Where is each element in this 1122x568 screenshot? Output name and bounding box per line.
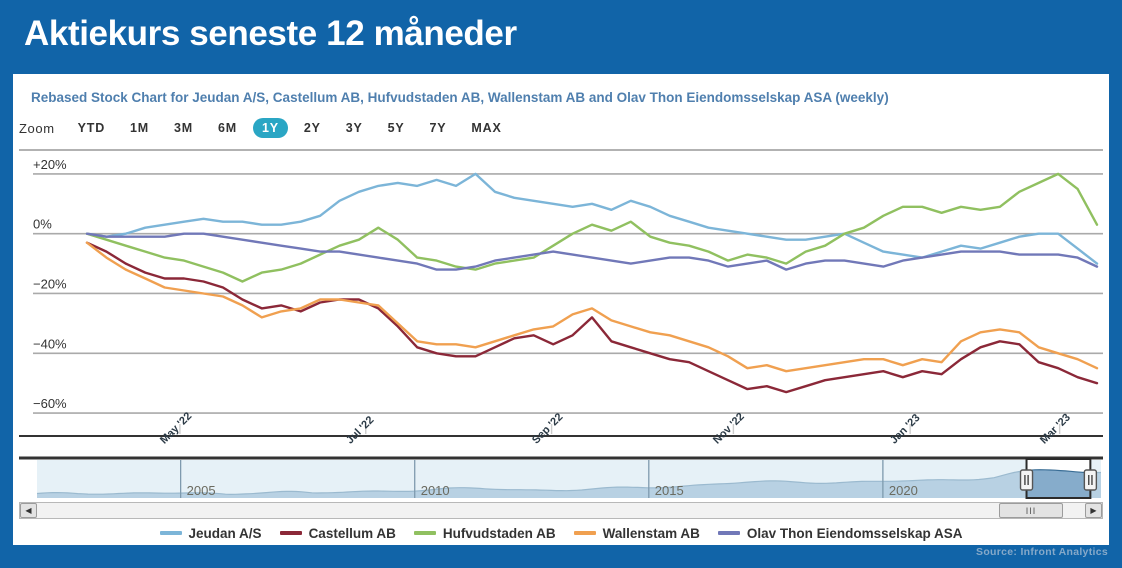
navigator-handle-left[interactable] [1021, 470, 1033, 490]
plot-area: +20%0%−20%−40%−60% [19, 142, 1103, 442]
legend-item-wallenstam-ab[interactable]: Wallenstam AB [574, 526, 700, 541]
navigator-year-label: 2015 [655, 483, 684, 498]
zoom-label: Zoom [19, 121, 55, 136]
zoom-range-selector: Zoom YTD1M3M6M1Y2Y3Y5Y7YMAX [19, 116, 518, 140]
navigator-year-label: 2005 [187, 483, 216, 498]
zoom-button-2y[interactable]: 2Y [295, 118, 330, 138]
scrollbar-track[interactable]: III [37, 503, 1085, 518]
navigator-year-label: 2020 [889, 483, 918, 498]
y-axis-tick-label: −60% [33, 396, 67, 411]
zoom-button-group: YTD1M3M6M1Y2Y3Y5Y7YMAX [69, 119, 518, 137]
legend-label: Jeudan A/S [189, 526, 262, 541]
legend-item-hufvudstaden-ab[interactable]: Hufvudstaden AB [414, 526, 556, 541]
navigator-canvas[interactable]: 2005201020152020 [19, 456, 1103, 504]
legend-label: Castellum AB [309, 526, 396, 541]
zoom-button-max[interactable]: MAX [462, 118, 510, 138]
legend-color-swatch [718, 531, 740, 535]
scrollbar-thumb[interactable]: III [999, 503, 1063, 518]
range-navigator[interactable]: 2005201020152020 [19, 456, 1103, 504]
chart-card: Rebased Stock Chart for Jeudan A/S, Cast… [13, 74, 1109, 545]
zoom-button-5y[interactable]: 5Y [379, 118, 414, 138]
y-axis-tick-label: +20% [33, 157, 67, 172]
source-attribution: Source: Infront Analytics [976, 546, 1108, 558]
series-line [87, 243, 1097, 392]
series-line [87, 174, 1097, 282]
navigator-year-label: 2010 [421, 483, 450, 498]
legend-color-swatch [574, 531, 596, 535]
legend-item-castellum-ab[interactable]: Castellum AB [280, 526, 396, 541]
chart-canvas: +20%0%−20%−40%−60% [19, 142, 1103, 442]
legend-label: Wallenstam AB [603, 526, 700, 541]
legend-label: Hufvudstaden AB [443, 526, 556, 541]
zoom-button-6m[interactable]: 6M [209, 118, 246, 138]
scroll-left-arrow-icon[interactable]: ◀ [20, 503, 37, 518]
y-axis-tick-label: −40% [33, 336, 67, 351]
zoom-button-3m[interactable]: 3M [165, 118, 202, 138]
navigator-handle-right[interactable] [1084, 470, 1096, 490]
scroll-right-arrow-icon[interactable]: ▶ [1085, 503, 1102, 518]
page-title: Aktiekurs seneste 12 måneder [24, 14, 517, 54]
chart-legend: Jeudan A/SCastellum ABHufvudstaden ABWal… [13, 522, 1109, 544]
legend-item-jeudan-a-s[interactable]: Jeudan A/S [160, 526, 262, 541]
stock-chart-widget: Aktiekurs seneste 12 måneder Rebased Sto… [0, 0, 1122, 568]
chart-subtitle: Rebased Stock Chart for Jeudan A/S, Cast… [31, 90, 889, 105]
y-axis-tick-label: −20% [33, 276, 67, 291]
series-line [87, 174, 1097, 264]
legend-color-swatch [414, 531, 436, 535]
zoom-button-ytd[interactable]: YTD [69, 118, 114, 138]
legend-item-olav-thon-eiendomsselskap-asa[interactable]: Olav Thon Eiendomsselskap ASA [718, 526, 963, 541]
navigator-scrollbar[interactable]: ◀ III ▶ [19, 502, 1103, 519]
zoom-button-1m[interactable]: 1M [121, 118, 158, 138]
zoom-button-7y[interactable]: 7Y [421, 118, 456, 138]
series-line [87, 243, 1097, 372]
legend-color-swatch [160, 531, 182, 535]
zoom-button-3y[interactable]: 3Y [337, 118, 372, 138]
zoom-button-1y[interactable]: 1Y [253, 118, 288, 138]
y-axis-tick-label: 0% [33, 217, 52, 232]
header-bar: Aktiekurs seneste 12 måneder [0, 0, 1122, 74]
legend-color-swatch [280, 531, 302, 535]
navigator-mask-left [37, 460, 1027, 498]
legend-label: Olav Thon Eiendomsselskap ASA [747, 526, 963, 541]
